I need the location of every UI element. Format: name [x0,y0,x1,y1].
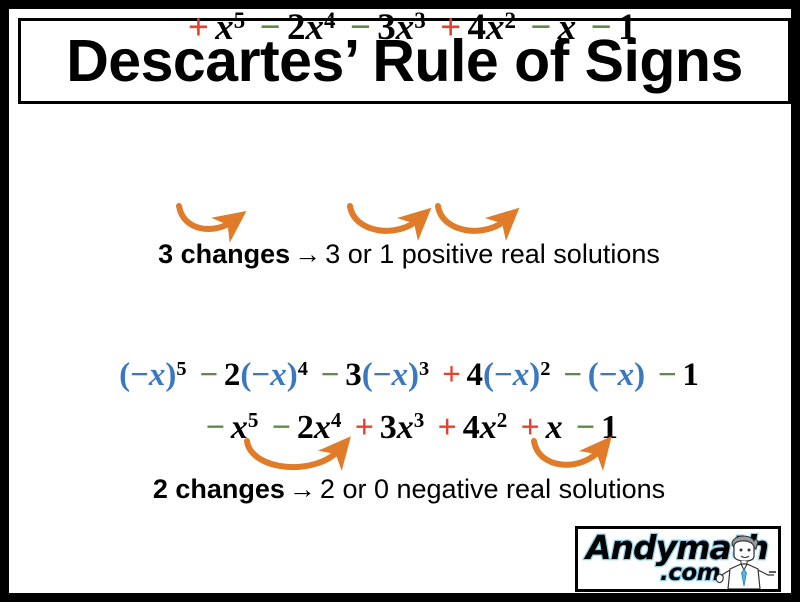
paren-close: ) [287,359,298,392]
variable-x: x [397,411,414,445]
changes-count-label: 2 changes [153,474,285,504]
variable-x: x [392,359,409,392]
term-1: −x5 [200,411,258,445]
expression-substitution: (−x)5−2(−x)4−3(−x)3+4(−x)2−(−x)−1 [9,359,800,392]
coefficient: 3 [345,359,362,392]
paren-neg-x: (− [240,359,270,392]
paren-neg-x: (− [362,359,392,392]
sign-minus: − [200,411,231,445]
coefficient: 4 [467,359,484,392]
term-3: −3x3 [344,9,426,46]
sign-plus: + [515,411,546,445]
variable-x: x [270,359,287,392]
sign-minus: − [344,9,378,46]
variable-x: x [396,9,415,46]
sign-plus: + [432,411,463,445]
sign-plus: + [182,9,216,46]
term-2: −2x4 [266,411,341,445]
expression-original: +x5−2x4−3x3+4x2−x−1 [9,9,800,46]
paren-neg-x: (− [483,359,513,392]
worksheet-page: Descartes’ Rule of Signs +x5−2x4−3x3+4x2… [0,0,800,602]
term-6: −1 [570,411,618,445]
teacher-figure-icon [712,530,776,590]
sign-plus: + [436,359,466,392]
term-1: (−x)5 [119,359,187,392]
variable-x: x [546,411,563,445]
term-6: −1 [584,9,636,46]
sign-minus: − [253,9,287,46]
sign-minus: − [558,359,588,392]
variable-x: x [513,359,530,392]
sign-minus: − [194,359,224,392]
coefficient: 4 [467,9,486,46]
constant: 1 [601,411,618,445]
constant: 1 [682,359,699,392]
implies-arrow-icon: → [285,474,320,504]
variable-x: x [149,359,166,392]
term-5: +x [515,411,563,445]
variable-x: x [618,359,635,392]
sign-minus: − [584,9,618,46]
sign-change-arrow-2 [350,206,419,231]
conclusion-positive: 3 changes→3 or 1 positive real solutions [9,241,800,268]
constant: 1 [618,9,637,46]
expression-simplified: −x5−2x4+3x3+4x2+x−1 [9,411,800,445]
andymath-logo[interactable]: Andymath .com [575,526,781,592]
sign-minus: − [266,411,297,445]
variable-x: x [231,411,248,445]
coefficient: 3 [380,411,397,445]
paren-close: ) [634,359,645,392]
coefficient: 2 [224,359,241,392]
term-2: −2(−x)4 [194,359,308,392]
variable-x: x [480,411,497,445]
term-3: −3(−x)3 [315,359,429,392]
variable-x: x [305,9,324,46]
paren-neg-x: (− [588,359,618,392]
paren-close: ) [529,359,540,392]
term-4: +4x2 [434,9,516,46]
sign-minus: − [524,9,558,46]
variable-x: x [558,9,577,46]
variable-x: x [486,9,505,46]
sign-change-arrow-1 [179,206,233,229]
sign-plus: + [349,411,380,445]
term-6: −1 [652,359,699,392]
sign-plus: + [434,9,468,46]
conclusion-negative: 2 changes→2 or 0 negative real solutions [9,476,800,503]
term-5: −(−x) [558,359,645,392]
sign-minus: − [652,359,682,392]
sign-minus: − [315,359,345,392]
paren-close: ) [408,359,419,392]
term-3: +3x3 [349,411,424,445]
coefficient: 2 [297,411,314,445]
term-2: −2x4 [253,9,335,46]
coefficient: 2 [287,9,306,46]
paren-close: ) [165,359,176,392]
variable-x: x [314,411,331,445]
sign-minus: − [570,411,601,445]
term-4: +4(−x)2 [436,359,550,392]
coefficient: 3 [377,9,396,46]
implies-arrow-icon: → [290,239,325,269]
term-1: +x5 [182,9,246,46]
conclusion-positive-text: 3 or 1 positive real solutions [325,239,660,269]
term-4: +4x2 [432,411,507,445]
term-5: −x [524,9,576,46]
conclusion-negative-text: 2 or 0 negative real solutions [320,474,665,504]
changes-count-label: 3 changes [158,239,290,269]
sign-change-arrow-3 [438,206,507,231]
coefficient: 4 [463,411,480,445]
variable-x: x [215,9,234,46]
paren-neg-x: (− [119,359,149,392]
